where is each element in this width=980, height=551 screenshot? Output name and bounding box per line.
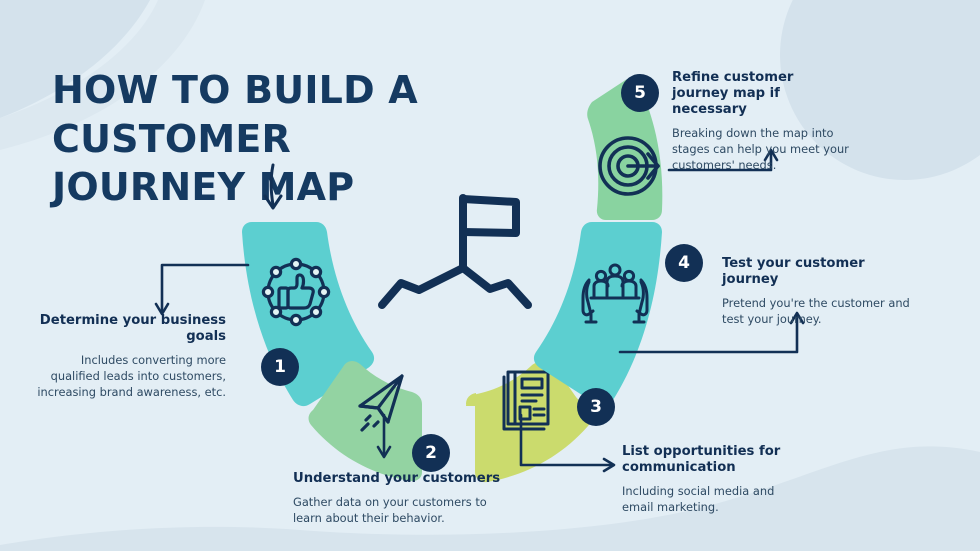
step-text-5: Refine customer journey map if necessary…: [672, 70, 850, 173]
step-badge-4[interactable]: 4: [665, 244, 703, 282]
step-3-heading: List opportunities for communication: [622, 444, 794, 476]
connector-step-1: [156, 265, 248, 314]
step-text-4: Test your customer journey Pretend you'r…: [722, 256, 922, 327]
step-1-heading: Determine your business goals: [30, 313, 226, 345]
step-4-body: Pretend you're the customer and test you…: [722, 295, 922, 327]
step-badge-2[interactable]: 2: [412, 434, 450, 472]
step-text-3: List opportunities for communication Inc…: [622, 444, 794, 515]
step-text-2: Understand your customers Gather data on…: [293, 471, 503, 526]
step-4-heading: Test your customer journey: [722, 256, 922, 288]
step-3-body: Including social media and email marketi…: [622, 483, 794, 515]
step-badge-3[interactable]: 3: [577, 388, 615, 426]
target-dartboard-icon: [600, 138, 658, 194]
step-badge-1[interactable]: 1: [261, 348, 299, 386]
step-5-heading: Refine customer journey map if necessary: [672, 70, 850, 118]
step-2-body: Gather data on your customers to learn a…: [293, 494, 503, 526]
step-5-body: Breaking down the map into stages can he…: [672, 125, 850, 174]
step-1-body: Includes converting more qualified leads…: [30, 352, 226, 401]
title-down-arrow: [265, 165, 281, 208]
flag-on-mountain-icon: [382, 198, 528, 305]
step-badge-5[interactable]: 5: [621, 74, 659, 112]
step-text-1: Determine your business goals Includes c…: [30, 313, 226, 400]
step-2-heading: Understand your customers: [293, 471, 503, 487]
